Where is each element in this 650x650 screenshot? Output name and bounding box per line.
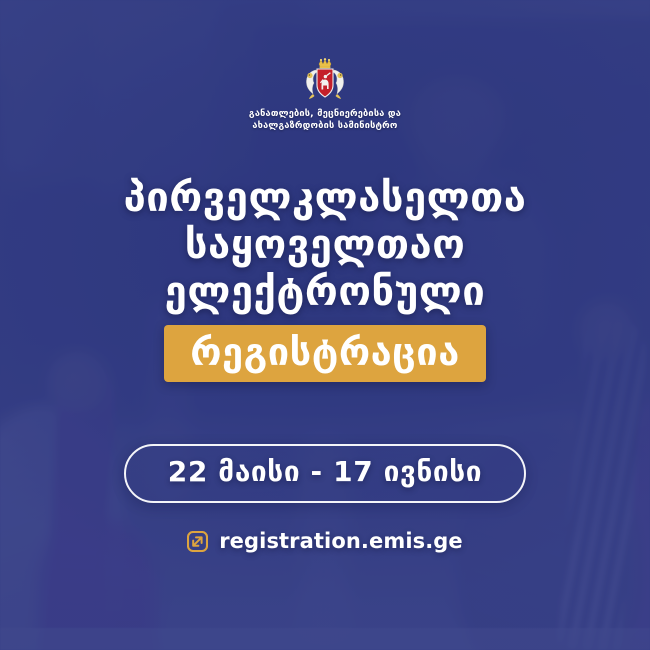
page-title: პირველკლასელთა საყოველთაო ელექტრონული [124,175,527,316]
headline-line-3: ელექტრონული [124,269,527,316]
external-link-icon [187,531,208,552]
registration-url-row[interactable]: registration.emis.ge [187,529,463,553]
headline-line-2: საყოველთაო [124,222,527,269]
headline-highlight-wrap: რეგისტრაცია [164,325,486,382]
ministry-name: განათლების, მეცნიერებისა და ახალგაზრდობი… [249,108,401,131]
headline-line-1: პირველკლასელთა [124,175,527,222]
brand-block: განათლების, მეცნიერებისა და ახალგაზრდობი… [249,58,401,131]
registration-url-text[interactable]: registration.emis.ge [219,529,463,553]
registration-date-badge: 22 მაისი - 17 ივნისი [124,444,526,503]
poster-content: განათლების, მეცნიერებისა და ახალგაზრდობი… [0,0,650,650]
georgia-coat-of-arms-icon [299,58,351,102]
headline-highlight-badge: რეგისტრაცია [164,325,486,382]
poster-root: განათლების, მეცნიერებისა და ახალგაზრდობი… [0,0,650,650]
